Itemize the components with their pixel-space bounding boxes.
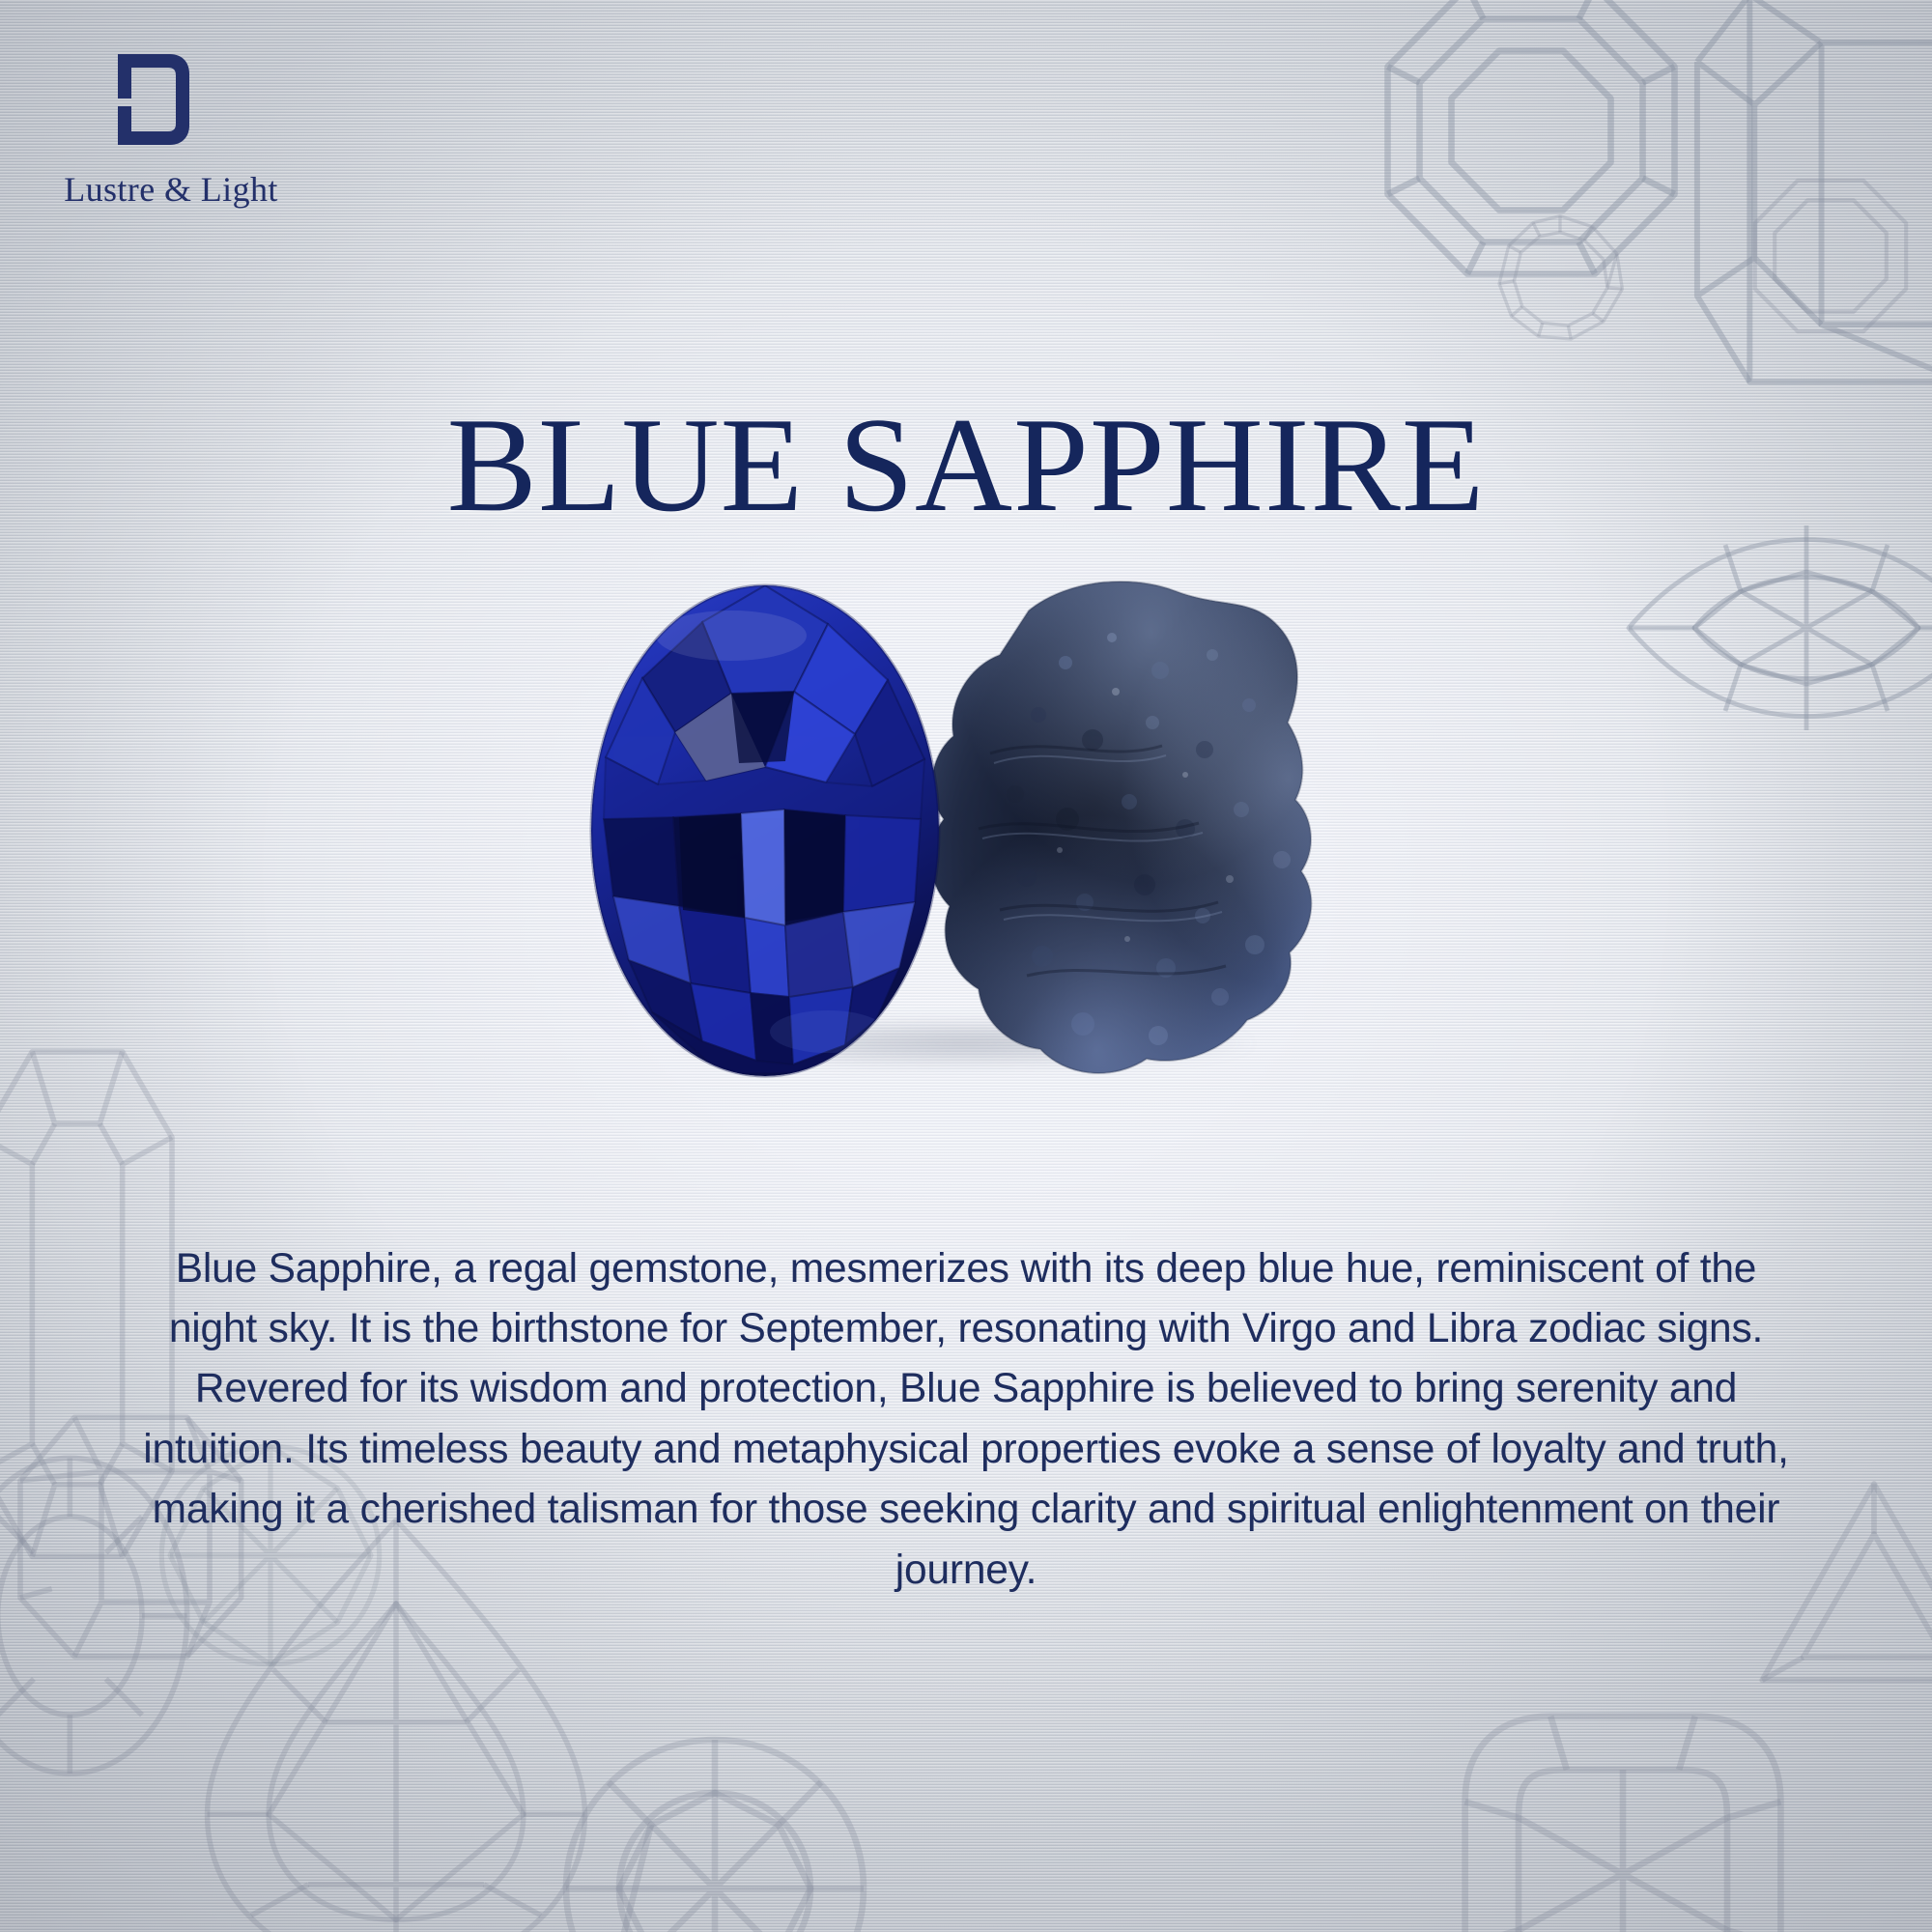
gem-outline-watermark — [1492, 211, 1628, 346]
hero-gem-images — [0, 570, 1932, 1111]
gem-outline-watermark — [1676, 0, 1932, 415]
bracket-monogram-icon — [110, 50, 193, 151]
oval-cut-sapphire-image — [586, 578, 944, 1080]
brand-logo[interactable]: Lustre & Light — [60, 50, 379, 210]
description-text: Blue Sapphire, a regal gemstone, mesmeri… — [135, 1239, 1797, 1602]
gem-outline-watermark — [555, 1729, 874, 1932]
gem-outline-watermark — [1372, 0, 1690, 290]
page-title: BLUE SAPPHIRE — [0, 398, 1932, 533]
brand-name: Lustre & Light — [60, 169, 282, 210]
gem-outline-watermark — [1748, 174, 1913, 338]
rough-sapphire-crystal-image — [923, 570, 1338, 1092]
poster-canvas: Lustre & Light BLUE SAPPHIRE — [0, 0, 1932, 1932]
gem-outline-watermark — [1449, 1700, 1797, 1932]
